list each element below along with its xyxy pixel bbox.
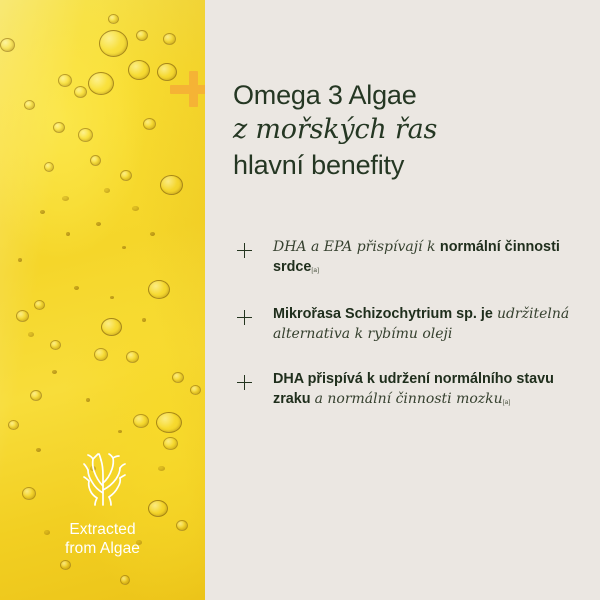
bubble <box>44 162 54 172</box>
bubble-speck <box>86 398 90 402</box>
benefit-footnote-marker: [a] <box>503 399 511 406</box>
bubble <box>160 175 183 195</box>
bubble <box>156 412 182 433</box>
heading-line-2: z mořských řas <box>233 112 583 148</box>
bubble <box>99 30 128 57</box>
bubble <box>60 560 71 570</box>
bubble-speck <box>118 430 122 433</box>
bubble <box>120 170 132 181</box>
bubble <box>148 280 170 299</box>
bubble-speck <box>132 206 139 211</box>
bubble <box>120 575 130 585</box>
bubble <box>58 74 72 87</box>
bubble-speck <box>62 196 69 201</box>
heading-line-1: Omega 3 Algae <box>233 79 583 112</box>
bubble <box>0 38 15 52</box>
bubble <box>50 340 61 350</box>
benefit-item: DHA a EPA přispívají k normální činnosti… <box>233 238 581 279</box>
content-panel: Omega 3 Algae z mořských řas hlavní bene… <box>205 0 600 600</box>
bubble <box>172 372 184 383</box>
bubble-speck <box>122 246 126 249</box>
bubble <box>94 348 108 361</box>
bubble-speck <box>74 286 79 290</box>
bubble-speck <box>40 210 45 214</box>
bubble <box>34 300 45 310</box>
benefit-text: DHA a EPA přispívají k normální činnosti… <box>273 238 581 279</box>
bubble <box>74 86 87 98</box>
algae-caption-line-1: Extracted <box>0 520 205 539</box>
bubble <box>190 385 201 395</box>
bubble <box>133 414 149 428</box>
bubble-speck <box>104 188 110 193</box>
bubble-speck <box>96 222 101 226</box>
benefit-text: DHA přispívá k udržení normálního stavu … <box>273 370 581 411</box>
plus-bullet-icon <box>237 243 252 258</box>
bubble <box>126 351 139 363</box>
bubble-speck <box>66 232 70 236</box>
bubble <box>88 72 114 95</box>
bubble-speck <box>142 318 146 322</box>
plus-bullet-icon <box>237 375 252 390</box>
benefits-list: DHA a EPA přispívají k normální činnosti… <box>233 238 581 411</box>
benefit-segment-serif: DHA a EPA přispívají k <box>273 239 440 255</box>
benefit-item: DHA přispívá k udržení normálního stavu … <box>233 370 581 411</box>
plus-bullet-icon <box>237 310 252 325</box>
bubble <box>8 420 19 430</box>
bubble <box>163 33 176 45</box>
algae-seaweed-icon <box>75 452 131 506</box>
benefit-text: Mikrořasa Schizochytrium sp. je udržitel… <box>273 305 581 344</box>
bubble <box>128 60 150 80</box>
bubble-speck <box>52 370 57 374</box>
bubble-speck <box>28 332 34 337</box>
bubble-speck <box>110 296 114 299</box>
bubble <box>143 118 156 130</box>
bubble <box>101 318 122 336</box>
bubble-speck <box>18 258 22 262</box>
algae-caption: Extracted from Algae <box>0 520 205 558</box>
algae-badge: Extracted from Algae <box>0 452 205 558</box>
bubble <box>78 128 93 142</box>
bubble <box>90 155 101 166</box>
bubble <box>24 100 35 110</box>
bubble <box>30 390 42 401</box>
algae-caption-line-2: from Algae <box>0 539 205 558</box>
bubble <box>163 437 178 450</box>
benefit-segment-sans: Mikrořasa Schizochytrium sp. je <box>273 306 497 322</box>
bubble-speck <box>150 232 155 236</box>
product-benefits-banner: Extracted from Algae Omega 3 Algae z moř… <box>0 0 600 600</box>
bubble <box>136 30 148 41</box>
benefit-footnote-marker: [a] <box>311 267 319 274</box>
bubble <box>53 122 65 133</box>
bubble <box>108 14 119 24</box>
bubble <box>16 310 29 322</box>
plus-accent-vertical-bar <box>189 71 198 107</box>
benefit-item: Mikrořasa Schizochytrium sp. je udržitel… <box>233 305 581 344</box>
benefit-segment-serif: a normální činnosti mozku <box>315 391 503 407</box>
heading-line-3: hlavní benefity <box>233 148 583 182</box>
heading-block: Omega 3 Algae z mořských řas hlavní bene… <box>233 79 583 182</box>
